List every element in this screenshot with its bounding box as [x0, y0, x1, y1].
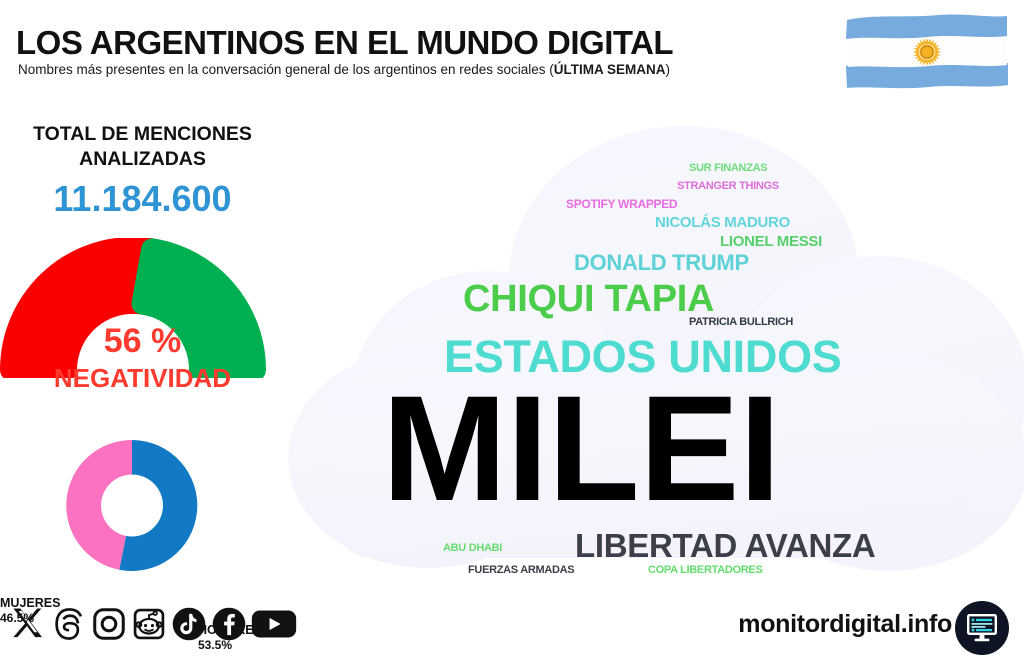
page-subtitle-emphasis: ÚLTIMA SEMANA: [554, 62, 666, 77]
total-mentions-label-line2: ANALIZADAS: [0, 147, 285, 172]
word-cloud: SUR FINANZASSTRANGER THINGSSPOTIFY WRAPP…: [278, 118, 1024, 588]
cloud-word: PATRICIA BULLRICH: [689, 317, 793, 328]
threads-icon[interactable]: [50, 605, 88, 643]
total-mentions-label-line1: TOTAL DE MENCIONES: [0, 122, 285, 147]
cloud-word: CHIQUI TAPIA: [463, 280, 714, 318]
x-twitter-icon[interactable]: [10, 605, 48, 643]
cloud-word: DONALD TRUMP: [574, 252, 749, 274]
cloud-word: SPOTIFY WRAPPED: [566, 198, 677, 210]
cloud-word: STRANGER THINGS: [677, 181, 779, 192]
footer: monitordigital.info: [0, 592, 1024, 660]
cloud-word: LIBERTAD AVANZA: [575, 529, 875, 562]
gender-donut-chart: [0, 433, 285, 583]
negativity-percent: 56 %: [0, 322, 285, 361]
header: LOS ARGENTINOS EN EL MUNDO DIGITAL Nombr…: [0, 0, 1024, 110]
page-title: LOS ARGENTINOS EN EL MUNDO DIGITAL: [16, 24, 673, 62]
youtube-icon[interactable]: [250, 605, 298, 643]
argentina-flag-icon: [843, 8, 1011, 100]
tiktok-icon[interactable]: [170, 605, 208, 643]
page-subtitle-text: Nombres más presentes en la conversación…: [18, 62, 554, 77]
total-mentions-value: 11.184.600: [0, 178, 285, 220]
brand-name[interactable]: monitordigital.info: [738, 610, 952, 639]
instagram-icon[interactable]: [90, 605, 128, 643]
cloud-word: SUR FINANZAS: [689, 163, 767, 174]
cloud-word: COPA LIBERTADORES: [648, 565, 762, 576]
cloud-word: ABU DHABI: [443, 543, 502, 554]
cloud-word: MILEI: [382, 373, 780, 523]
cloud-word: FUERZAS ARMADAS: [468, 565, 574, 576]
cloud-word: LIONEL MESSI: [720, 234, 822, 249]
social-links-row: [10, 602, 298, 646]
reddit-icon[interactable]: [130, 605, 168, 643]
negativity-gauge: 56 % NEGATIVIDAD: [0, 238, 285, 378]
page-subtitle: Nombres más presentes en la conversación…: [18, 62, 670, 77]
monitor-dashboard-icon[interactable]: [954, 600, 1010, 661]
facebook-icon[interactable]: [210, 605, 248, 643]
page-subtitle-tail: ): [666, 62, 671, 77]
stats-panel: TOTAL DE MENCIONES ANALIZADAS 11.184.600…: [0, 118, 285, 588]
negativity-label: NEGATIVIDAD: [0, 363, 285, 394]
cloud-word: NICOLÁS MADURO: [655, 215, 790, 230]
